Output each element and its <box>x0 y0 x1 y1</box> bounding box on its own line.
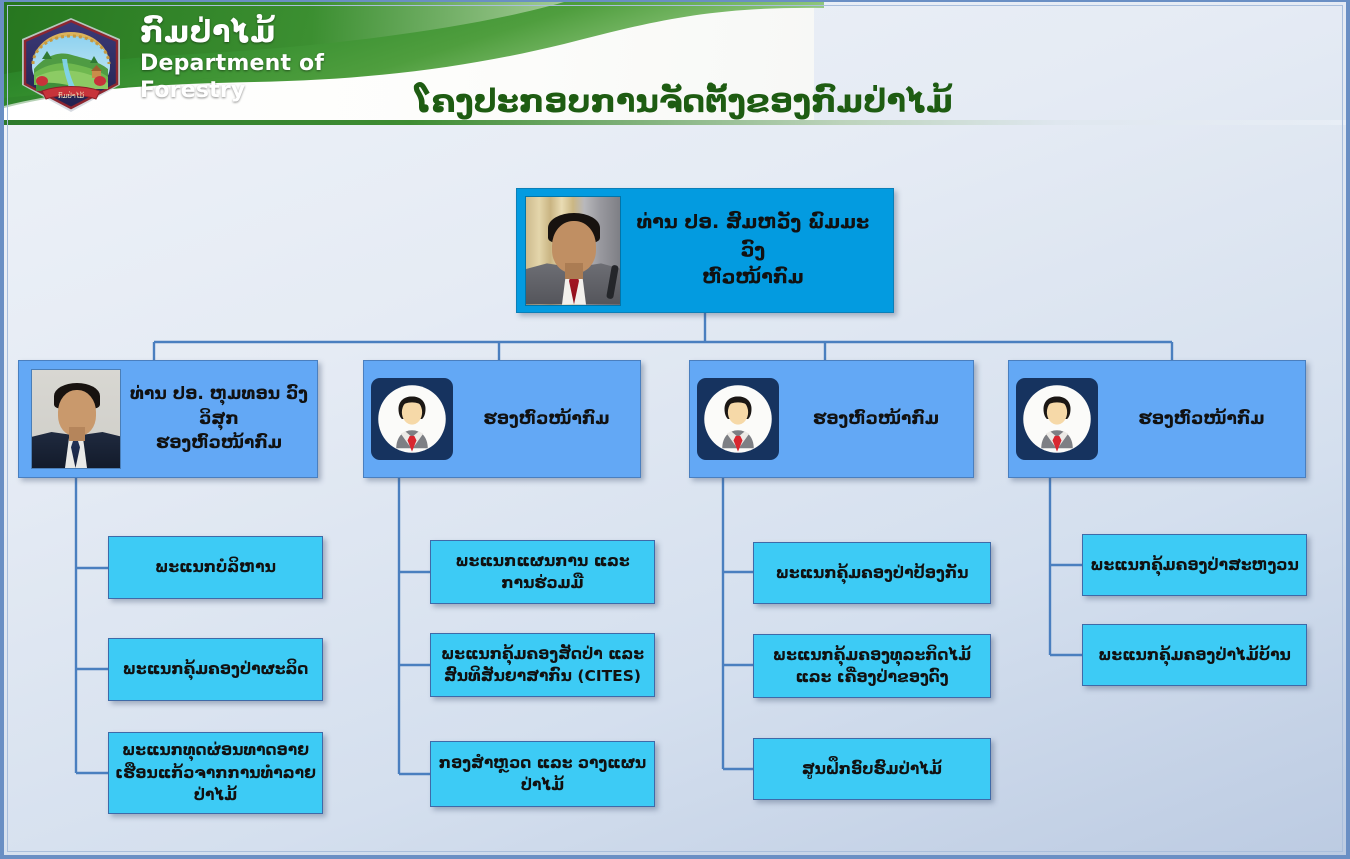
org-chart: ທ່ານ ປອ. ສົມຫວັງ ພົມມະວົງ ຫົວໜ້າກົມ ທ່ານ… <box>4 128 1350 859</box>
department-name-lao: ກົມປ່າໄມ້ <box>140 16 324 50</box>
deputy-1-label: ທ່ານ ປອ. ຫຸມທອນ ວົງວິສຸກ ຮອງຫົວໜ້າກົມ <box>121 382 317 456</box>
unit-box[interactable]: ສູນຝຶກອົບຮົມປ່າໄມ້ <box>753 738 991 800</box>
director-name: ທ່ານ ປອ. ສົມຫວັງ ພົມມະວົງ <box>627 209 879 264</box>
deputy-4-position: ຮອງຫົວໜ້າກົມ <box>1104 407 1299 432</box>
unit-box[interactable]: ພະແນກແຜນການ ແລະ ການຮ່ວມມື <box>430 540 655 604</box>
node-deputy-1[interactable]: ທ່ານ ປອ. ຫຸມທອນ ວົງວິສຸກ ຮອງຫົວໜ້າກົມ <box>18 360 318 478</box>
person-placeholder-avatar <box>1016 378 1098 460</box>
page-title: ໂຄງປະກອບການຈັດຕັ້ງຂອງກົມປ່າໄມ້ <box>304 82 1064 120</box>
forestry-emblem-icon: ກົມປ່າໄມ້ <box>12 15 130 115</box>
department-name-en-line2: Forestry <box>140 77 324 105</box>
department-name-en-line1: Department of <box>140 50 324 78</box>
node-deputy-4[interactable]: ຮອງຫົວໜ້າກົມ <box>1008 360 1306 478</box>
node-deputy-2[interactable]: ຮອງຫົວໜ້າກົມ <box>363 360 641 478</box>
unit-box[interactable]: ພະແນກຄຸ້ມຄອງທຸລະກິດໄມ້ ແລະ ເຄື່ອງປ່າຂອງດ… <box>753 634 991 698</box>
deputy-3-position: ຮອງຫົວໜ້າກົມ <box>785 407 967 432</box>
unit-box[interactable]: ພະແນກຄຸ້ມຄອງປ່າສະຫງວນ <box>1082 534 1307 596</box>
deputy-3-label: ຮອງຫົວໜ້າກົມ <box>779 407 973 432</box>
unit-box[interactable]: ພະແນກທຸດຜ່ອນທາດອາຍ ເຮືອນແກ້ວຈາກການທຳລາຍປ… <box>108 732 323 814</box>
deputy-4-label: ຮອງຫົວໜ້າກົມ <box>1098 407 1305 432</box>
director-label: ທ່ານ ປອ. ສົມຫວັງ ພົມມະວົງ ຫົວໜ້າກົມ <box>621 209 893 292</box>
header-divider-rule <box>4 120 1350 125</box>
deputy-1-photo <box>31 369 121 469</box>
director-photo <box>525 196 621 306</box>
person-placeholder-avatar <box>371 378 453 460</box>
deputy-1-name: ທ່ານ ປອ. ຫຸມທອນ ວົງວິສຸກ <box>127 382 311 431</box>
department-name-block: ກົມປ່າໄມ້ Department of Forestry <box>140 16 324 105</box>
person-placeholder-avatar <box>697 378 779 460</box>
slide-canvas: ກົມປ່າໄມ້ ກົມປ່າໄມ້ Department of Forest… <box>0 0 1350 859</box>
unit-box[interactable]: ພະແນກຄຸ້ມຄອງປ່າຜະລິດ <box>108 638 323 701</box>
svg-text:ກົມປ່າໄມ້: ກົມປ່າໄມ້ <box>58 90 84 100</box>
unit-box[interactable]: ພະແນກຄຸ້ມຄອງສັດປ່າ ແລະ ສົນທິສັນຍາສາກົນ (… <box>430 633 655 697</box>
node-deputy-3[interactable]: ຮອງຫົວໜ້າກົມ <box>689 360 974 478</box>
deputy-2-label: ຮອງຫົວໜ້າກົມ <box>453 407 640 432</box>
unit-box[interactable]: ພະແນກຄຸ້ມຄອງປ່າໄມ້ບ້ານ <box>1082 624 1307 686</box>
unit-box[interactable]: ພະແນກຄຸ້ມຄອງປ່າປ້ອງກັນ <box>753 542 991 604</box>
deputy-2-position: ຮອງຫົວໜ້າກົມ <box>459 407 634 432</box>
director-position: ຫົວໜ້າກົມ <box>627 264 879 292</box>
unit-box[interactable]: ກອງສຳຫຼວດ ແລະ ວາງແຜນປ່າໄມ້ <box>430 741 655 807</box>
unit-box[interactable]: ພະແນກບໍລິຫານ <box>108 536 323 599</box>
deputy-1-position: ຮອງຫົວໜ້າກົມ <box>127 431 311 456</box>
node-director[interactable]: ທ່ານ ປອ. ສົມຫວັງ ພົມມະວົງ ຫົວໜ້າກົມ <box>516 188 894 313</box>
